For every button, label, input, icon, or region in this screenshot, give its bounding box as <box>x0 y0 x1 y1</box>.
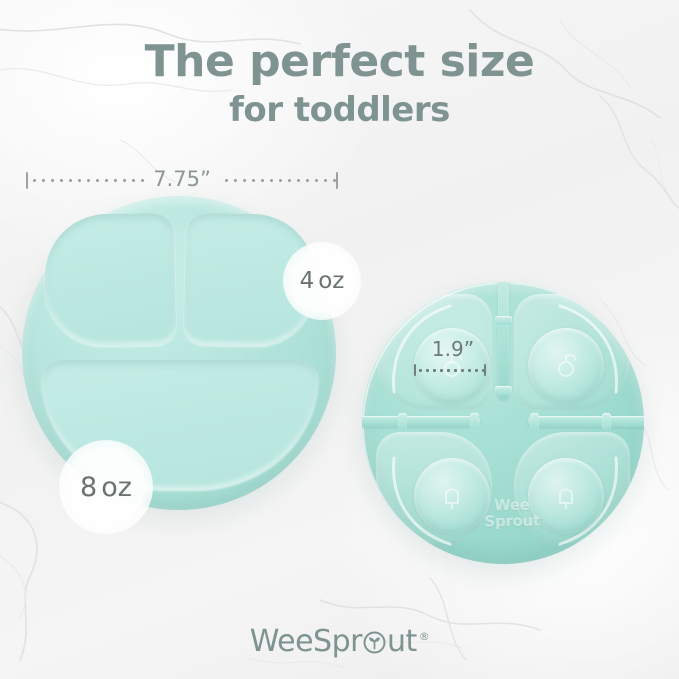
back-ridge-nub <box>602 413 611 430</box>
plate-width-label: 7.75” <box>144 167 220 191</box>
suction-cup-top-right <box>528 328 604 404</box>
sprout-icon <box>363 631 386 654</box>
back-ridge-nub <box>398 413 407 430</box>
registered-trademark-symbol: ® <box>419 630 430 643</box>
back-ridge-vertical <box>498 282 509 400</box>
back-ridge-left <box>362 416 480 427</box>
capacity-badge-unit: oz <box>318 268 344 294</box>
page-title-line-2: for toddlers <box>0 92 679 129</box>
back-ridge-nub <box>530 413 539 430</box>
brand-name-part-2: ut <box>387 624 417 659</box>
plate-back-view: Wee Sprout <box>362 282 644 564</box>
plate-width-dimension-line: 7.75” <box>26 168 338 192</box>
brand-name-part-1: WeeSpr <box>250 624 362 659</box>
back-ridge-nub <box>470 413 479 430</box>
capacity-badge-number: 8 <box>80 472 97 503</box>
suction-cup-width-label: 1.9” <box>414 337 492 361</box>
capacity-badge-8oz: 8 oz <box>59 440 153 534</box>
embossed-brand-logo: Wee Sprout <box>458 497 567 530</box>
page-title-line-1: The perfect size <box>0 38 679 86</box>
back-ridge-nub <box>495 386 512 395</box>
dimension-dots-right <box>220 179 336 182</box>
dimension-dots-left <box>28 179 144 182</box>
capacity-badge-4oz: 4 oz <box>283 242 361 320</box>
capacity-badge-unit: oz <box>101 472 132 503</box>
brand-logo: WeeSpr ut ® <box>0 624 679 659</box>
back-ridge-nub <box>495 316 512 325</box>
compartment-top-left <box>44 213 176 347</box>
capacity-badge-number: 4 <box>300 268 315 294</box>
dimension-cap-right <box>336 172 338 189</box>
embossed-logo-line-2: Sprout <box>458 513 566 531</box>
brand-logo-text: WeeSpr ut ® <box>250 624 430 659</box>
suction-cup-dimension-line <box>414 364 486 376</box>
back-ridge-right <box>528 416 644 427</box>
product-infographic: The perfect size for toddlers 7.75” <box>0 0 679 679</box>
dimension-dots <box>416 369 484 372</box>
dimension-cap-right <box>484 364 486 376</box>
